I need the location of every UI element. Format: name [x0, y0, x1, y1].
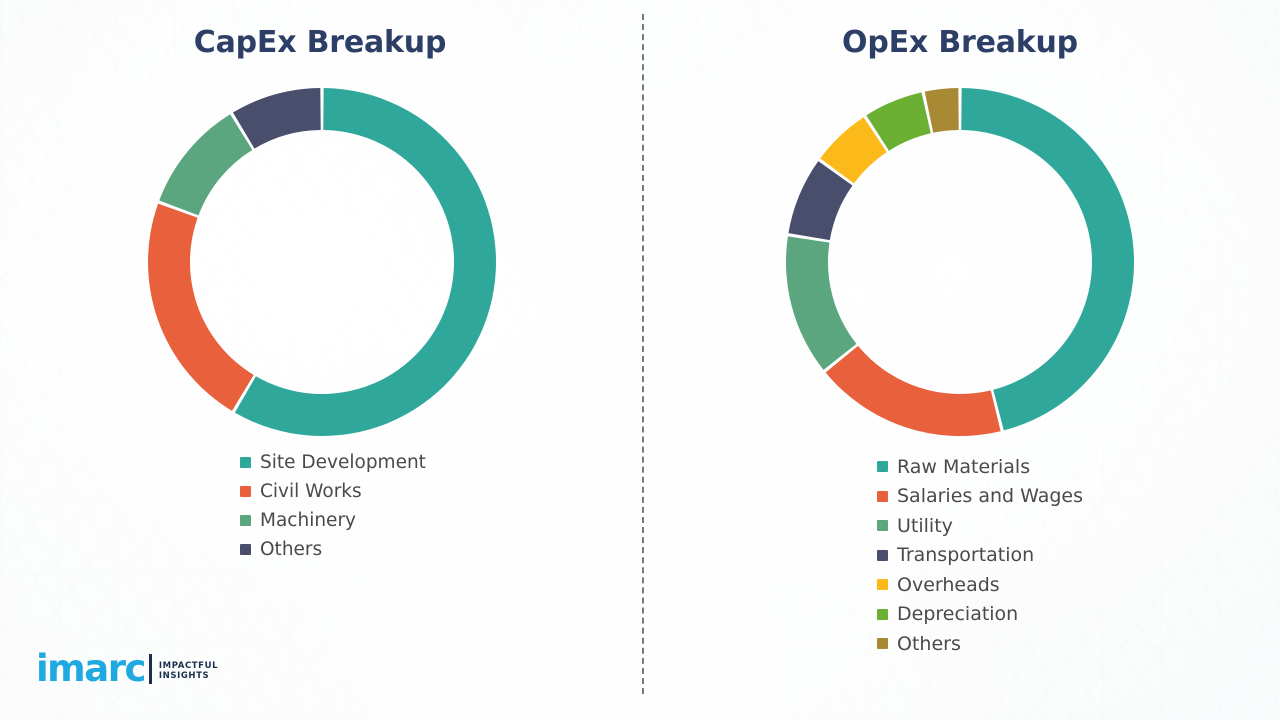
logo-tagline-line2: INSIGHTS: [159, 671, 218, 682]
capex-chart-title: CapEx Breakup: [0, 25, 640, 60]
legend-item-label: Depreciation: [897, 603, 1018, 625]
legend-swatch-icon: [240, 486, 251, 497]
legend-item-label: Site Development: [260, 452, 426, 473]
legend-item-label: Utility: [897, 515, 953, 537]
legend-item-label: Civil Works: [260, 481, 362, 502]
donut-slice: [786, 236, 856, 369]
legend-swatch-icon: [877, 550, 888, 561]
logo-tagline-line1: IMPACTFUL: [159, 661, 218, 672]
legend-item-label: Salaries and Wages: [897, 485, 1083, 507]
opex-legend: Raw MaterialsSalaries and WagesUtilityTr…: [877, 452, 1083, 659]
legend-swatch-icon: [240, 457, 251, 468]
legend-item-label: Others: [897, 633, 961, 655]
opex-donut-chart: [786, 88, 1134, 436]
legend-swatch-icon: [877, 638, 888, 649]
donut-slice: [148, 204, 254, 411]
logo-divider-bar: [149, 654, 152, 684]
logo-wordmark: imarc: [36, 650, 145, 687]
legend-item: Others: [877, 629, 1083, 659]
capex-donut-chart: [148, 88, 496, 436]
legend-item: Overheads: [877, 570, 1083, 600]
legend-item: Depreciation: [877, 600, 1083, 630]
legend-swatch-icon: [877, 491, 888, 502]
opex-chart-title: OpEx Breakup: [640, 25, 1280, 60]
donut-svg: [786, 88, 1134, 436]
logo-tagline: IMPACTFUL INSIGHTS: [159, 661, 218, 682]
donut-slice: [233, 88, 321, 149]
legend-item-label: Overheads: [897, 574, 1000, 596]
legend-item: Raw Materials: [877, 452, 1083, 482]
legend-item: Civil Works: [240, 477, 426, 506]
capex-legend: Site DevelopmentCivil WorksMachineryOthe…: [240, 448, 426, 564]
legend-item-label: Transportation: [897, 544, 1034, 566]
donut-slice: [159, 114, 252, 215]
legend-item: Others: [240, 535, 426, 564]
legend-item: Site Development: [240, 448, 426, 477]
panel-divider: [642, 14, 644, 694]
legend-item: Utility: [877, 511, 1083, 541]
legend-swatch-icon: [877, 579, 888, 590]
legend-item: Machinery: [240, 506, 426, 535]
legend-item-label: Machinery: [260, 510, 356, 531]
legend-item: Salaries and Wages: [877, 482, 1083, 512]
legend-item-label: Others: [260, 539, 322, 560]
capex-panel: CapEx Breakup Site DevelopmentCivil Work…: [0, 0, 640, 720]
donut-slice: [235, 88, 496, 436]
donut-slice: [826, 346, 1001, 436]
legend-item: Transportation: [877, 541, 1083, 571]
legend-swatch-icon: [877, 520, 888, 531]
legend-swatch-icon: [240, 544, 251, 555]
donut-slice: [961, 88, 1134, 430]
legend-swatch-icon: [877, 461, 888, 472]
imarc-logo: imarc IMPACTFUL INSIGHTS: [36, 650, 218, 687]
donut-svg: [148, 88, 496, 436]
legend-item-label: Raw Materials: [897, 456, 1030, 478]
legend-swatch-icon: [877, 609, 888, 620]
donut-slice: [925, 88, 959, 133]
legend-swatch-icon: [240, 515, 251, 526]
